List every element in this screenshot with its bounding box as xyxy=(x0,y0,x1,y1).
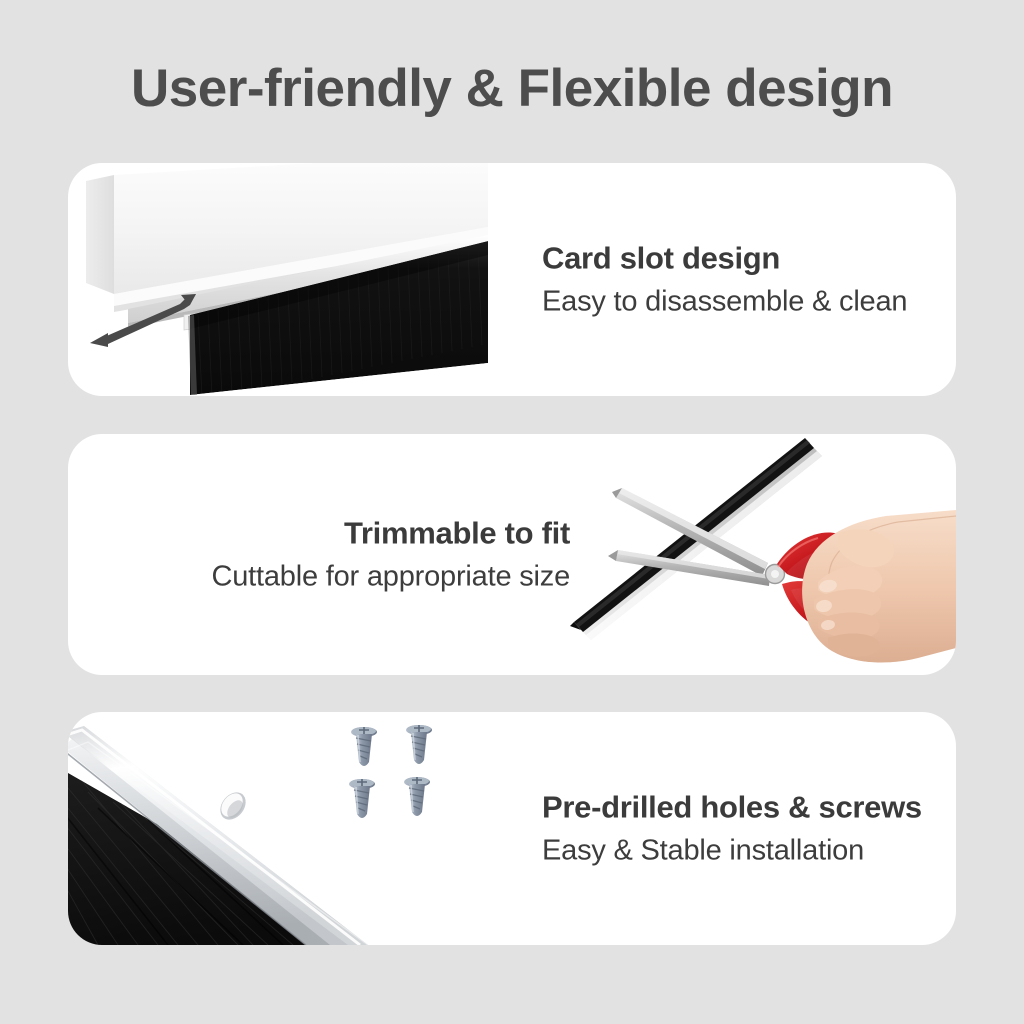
page-title: User-friendly & Flexible design xyxy=(0,58,1024,119)
feature-text-block: Card slot design Easy to disassemble & c… xyxy=(542,240,907,319)
screw xyxy=(351,727,377,766)
door-bottom-with-brush-seal-photo xyxy=(68,163,488,396)
screw xyxy=(406,725,432,764)
feature-title: Pre-drilled holes & screws xyxy=(542,789,922,825)
feature-title: Card slot design xyxy=(542,240,907,276)
feature-card-card-slot-design: Card slot design Easy to disassemble & c… xyxy=(68,163,956,396)
pre-drilled-hole xyxy=(215,787,251,824)
feature-title: Trimmable to fit xyxy=(92,515,570,551)
feature-text-block: Trimmable to fit Cuttable for appropriat… xyxy=(92,515,570,594)
screw xyxy=(349,779,375,818)
feature-card-pre-drilled-holes-and-screws: Pre-drilled holes & screws Easy & Stable… xyxy=(68,712,956,945)
screw xyxy=(404,777,430,816)
feature-subtitle: Easy & Stable installation xyxy=(542,835,922,868)
hand-cutting-strip-with-scissors-photo xyxy=(556,434,956,675)
feature-subtitle: Easy to disassemble & clean xyxy=(542,286,907,319)
feature-subtitle: Cuttable for appropriate size xyxy=(92,561,570,594)
feature-text-block: Pre-drilled holes & screws Easy & Stable… xyxy=(542,789,922,868)
aluminum-strip-with-hole-and-screws-photo xyxy=(68,712,488,945)
feature-card-trimmable-to-fit: Trimmable to fit Cuttable for appropriat… xyxy=(68,434,956,675)
screw-group xyxy=(349,725,432,818)
